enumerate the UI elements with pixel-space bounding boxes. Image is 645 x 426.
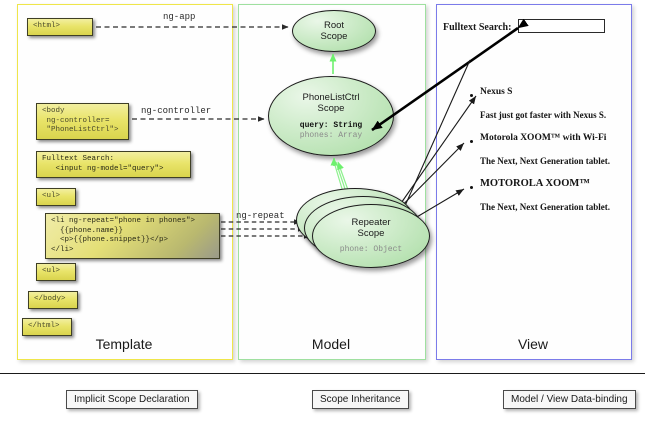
legend-item-implicit-scope-declaration: Implicit Scope Declaration bbox=[66, 390, 198, 409]
arrow-databinding-query bbox=[372, 28, 518, 130]
scope-repeater-title-line1: Repeater bbox=[351, 217, 390, 228]
legend: Implicit Scope Declaration Scope Inherit… bbox=[0, 373, 645, 426]
scope-repeater-title-line2: Scope bbox=[358, 228, 385, 239]
panel-title-view: View bbox=[436, 336, 630, 352]
arrow-databinding-phone-1 bbox=[392, 96, 476, 216]
legend-item-model-view-data-binding: Model / View Data-binding bbox=[503, 390, 636, 409]
arrow-databinding-repeater-upper bbox=[404, 60, 470, 208]
scope-repeater-prop-phone: phone: Object bbox=[340, 245, 402, 255]
legend-item-scope-inheritance: Scope Inheritance bbox=[312, 390, 409, 409]
scope-repeater: Repeater Scope phone: Object bbox=[312, 204, 430, 268]
panel-title-template: Template bbox=[17, 336, 231, 352]
panel-title-model: Model bbox=[238, 336, 424, 352]
diagram-canvas: <html> <body ng-controller= "PhoneListCt… bbox=[0, 0, 645, 425]
